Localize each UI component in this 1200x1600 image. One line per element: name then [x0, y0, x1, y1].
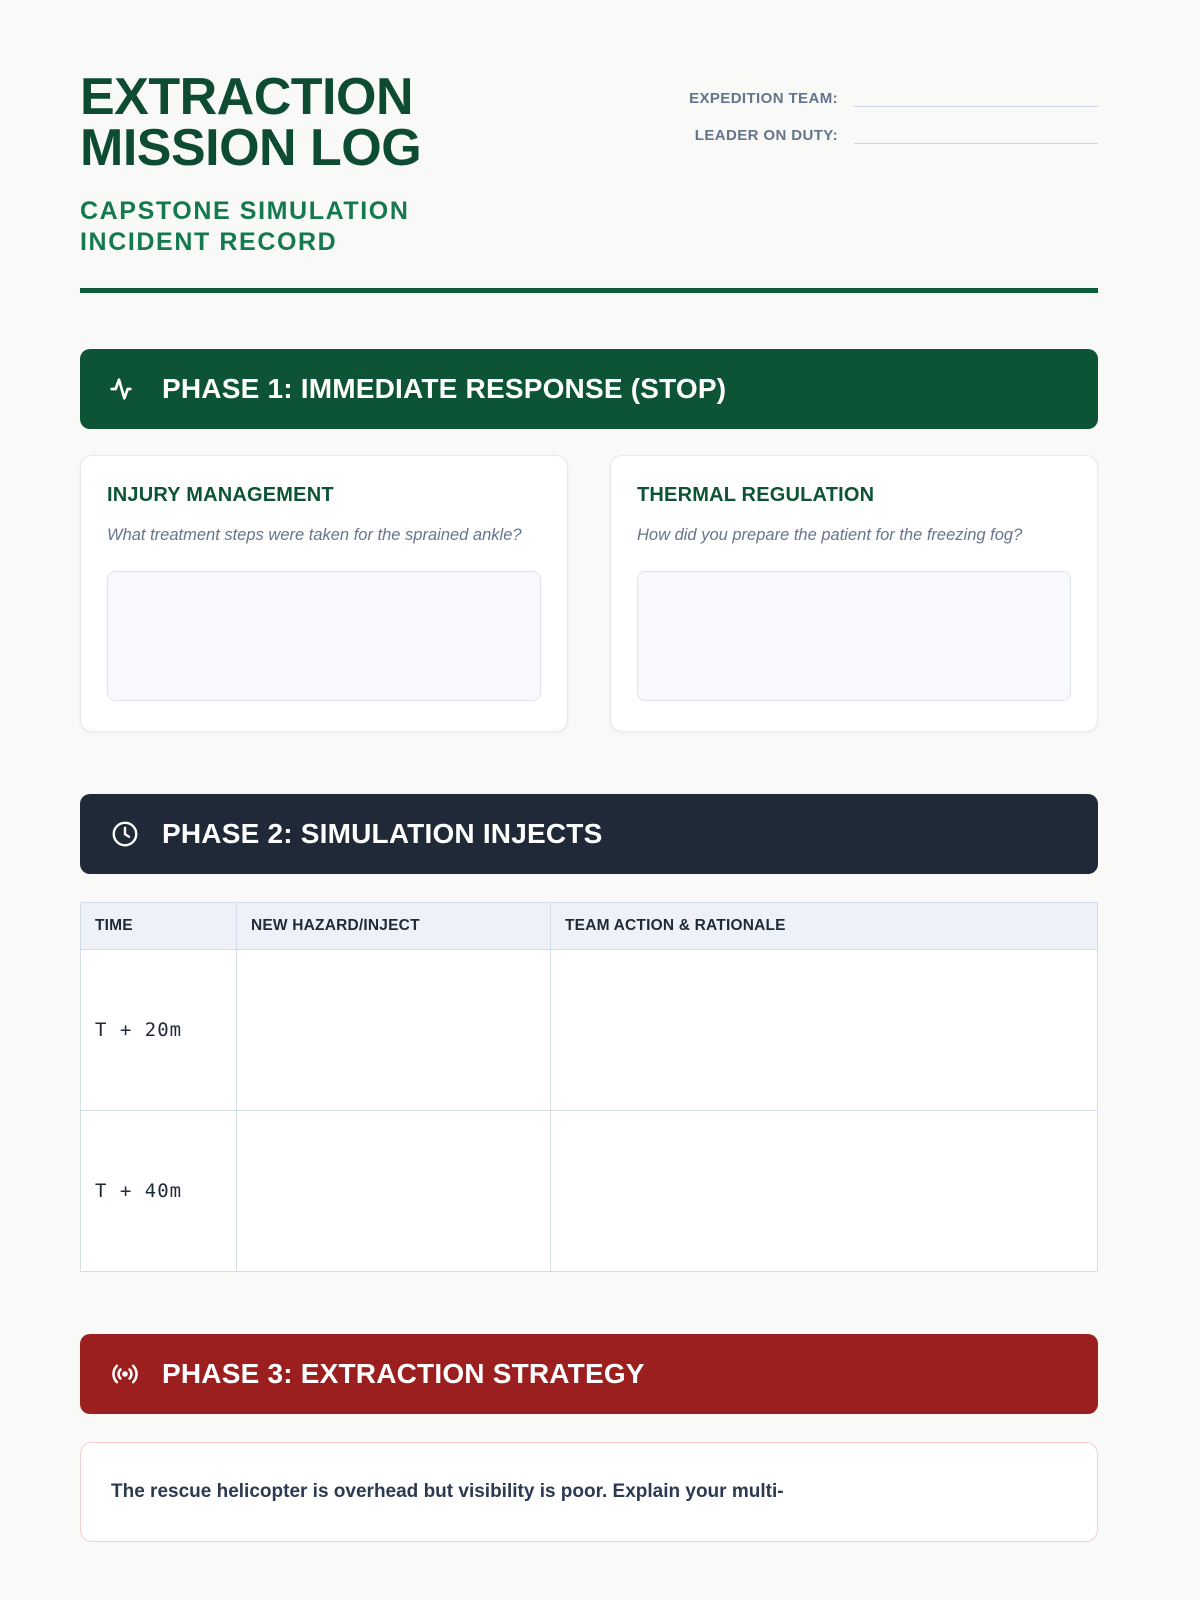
phase-1-title: PHASE 1: IMMEDIATE RESPONSE (STOP) — [162, 373, 726, 405]
column-header-hazard: NEW HAZARD/INJECT — [237, 902, 551, 949]
page-title: EXTRACTION MISSION LOG — [80, 72, 520, 174]
card-prompt: How did you prepare the patient for the … — [637, 523, 1071, 549]
card-thermal-regulation: THERMAL REGULATION How did you prepare t… — [610, 455, 1098, 732]
column-header-time: TIME — [81, 902, 237, 949]
header-form-fields: EXPEDITION TEAM: LEADER ON DUTY: — [678, 90, 1098, 164]
clock-icon — [108, 817, 142, 851]
card-prompt: What treatment steps were taken for the … — [107, 523, 541, 549]
broadcast-signal-icon — [108, 1357, 142, 1391]
phase-1-card-grid: INJURY MANAGEMENT What treatment steps w… — [80, 455, 1098, 732]
table-header-row: TIME NEW HAZARD/INJECT TEAM ACTION & RAT… — [81, 902, 1098, 949]
table-row: T + 20m — [81, 949, 1098, 1110]
field-input-expedition-team[interactable] — [854, 106, 1098, 107]
phase-2-header-bar: PHASE 2: SIMULATION INJECTS — [80, 794, 1098, 874]
activity-pulse-icon — [108, 372, 142, 406]
field-leader-on-duty[interactable]: LEADER ON DUTY: — [678, 127, 1098, 148]
field-input-leader-on-duty[interactable] — [854, 143, 1098, 144]
page-subtitle: CAPSTONE SIMULATION INCIDENT RECORD — [80, 196, 510, 259]
phase-2-title: PHASE 2: SIMULATION INJECTS — [162, 818, 602, 850]
field-label-leader-on-duty: LEADER ON DUTY: — [678, 127, 838, 148]
phase-3-scenario-card: The rescue helicopter is overhead but vi… — [80, 1442, 1098, 1542]
scenario-text: The rescue helicopter is overhead but vi… — [111, 1477, 1067, 1507]
phase-3-title: PHASE 3: EXTRACTION STRATEGY — [162, 1358, 645, 1390]
phase-3-header-bar: PHASE 3: EXTRACTION STRATEGY — [80, 1334, 1098, 1414]
field-expedition-team[interactable]: EXPEDITION TEAM: — [678, 90, 1098, 111]
column-header-action: TEAM ACTION & RATIONALE — [551, 902, 1098, 949]
card-title: THERMAL REGULATION — [637, 484, 1071, 507]
simulation-injects-table: TIME NEW HAZARD/INJECT TEAM ACTION & RAT… — [80, 902, 1098, 1272]
cell-action-input[interactable] — [551, 949, 1098, 1110]
answer-input-thermal-regulation[interactable] — [637, 571, 1071, 701]
cell-action-input[interactable] — [551, 1110, 1098, 1271]
cell-time: T + 20m — [81, 949, 237, 1110]
card-injury-management: INJURY MANAGEMENT What treatment steps w… — [80, 455, 568, 732]
title-block: EXTRACTION MISSION LOG CAPSTONE SIMULATI… — [80, 72, 520, 258]
card-title: INJURY MANAGEMENT — [107, 484, 541, 507]
phase-1-header-bar: PHASE 1: IMMEDIATE RESPONSE (STOP) — [80, 349, 1098, 429]
table-row: T + 40m — [81, 1110, 1098, 1271]
cell-hazard-input[interactable] — [237, 1110, 551, 1271]
answer-input-injury-management[interactable] — [107, 571, 541, 701]
field-label-expedition-team: EXPEDITION TEAM: — [678, 90, 838, 111]
cell-hazard-input[interactable] — [237, 949, 551, 1110]
document-header: EXTRACTION MISSION LOG CAPSTONE SIMULATI… — [0, 0, 1200, 258]
cell-time: T + 40m — [81, 1110, 237, 1271]
mission-log-page: EXTRACTION MISSION LOG CAPSTONE SIMULATI… — [0, 0, 1200, 1600]
